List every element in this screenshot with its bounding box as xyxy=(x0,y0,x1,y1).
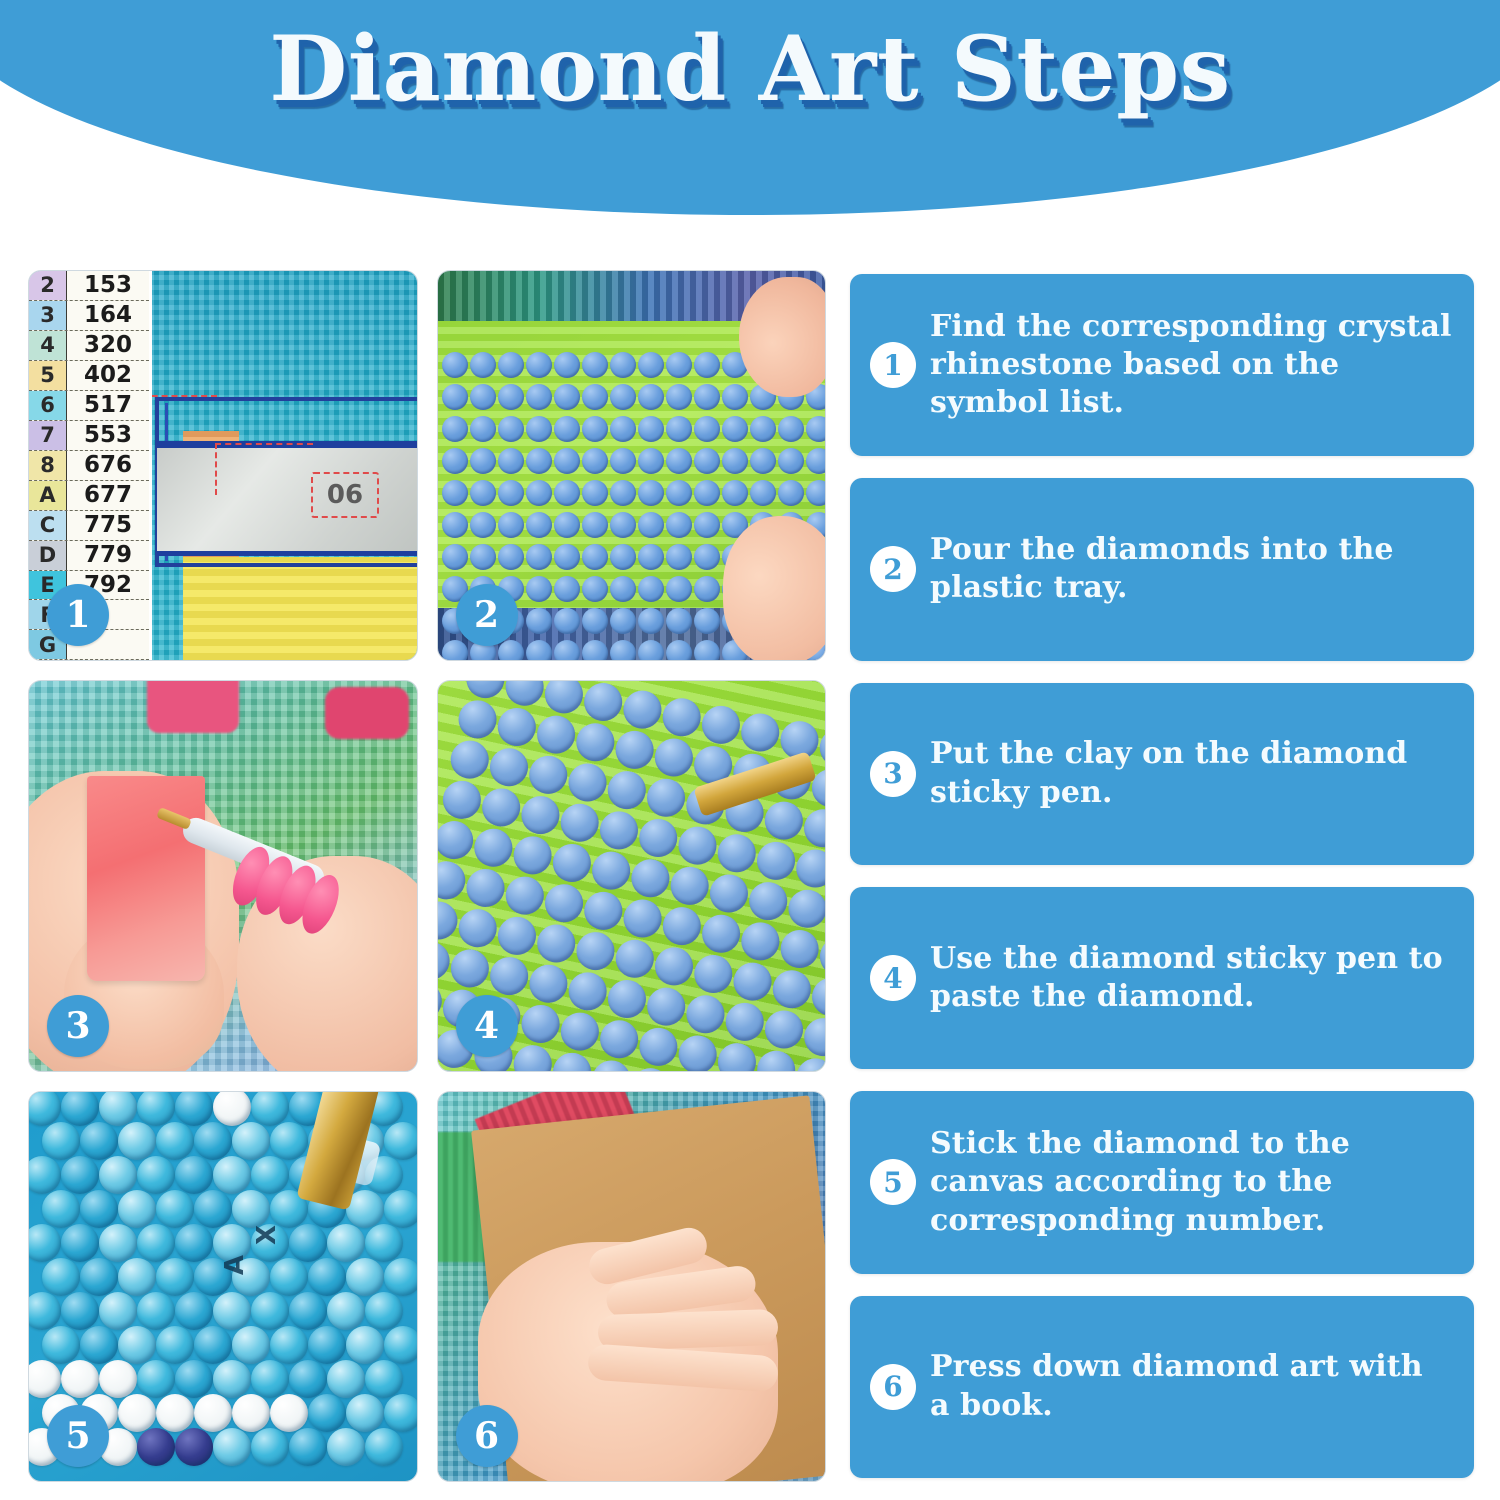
rhinestone-row xyxy=(438,445,826,477)
rhinestone xyxy=(447,737,492,782)
pasted-diamond xyxy=(118,1258,156,1296)
rhinestone xyxy=(683,992,728,1037)
symbol-cell: 8 xyxy=(29,451,67,480)
rhinestone xyxy=(502,873,547,918)
rhinestone xyxy=(722,384,748,410)
rhinestone xyxy=(442,512,468,538)
rhinestone xyxy=(750,480,776,506)
pasted-diamond xyxy=(99,1292,137,1330)
pasted-diamond xyxy=(308,1258,346,1296)
rhinestone xyxy=(800,806,826,851)
rhinestone xyxy=(604,977,649,1022)
finger-top-right xyxy=(739,277,826,397)
pasted-diamond xyxy=(156,1394,194,1432)
rhinestone xyxy=(526,352,552,378)
rhinestone xyxy=(610,544,636,570)
rhinestone-row xyxy=(438,413,826,445)
pasted-diamond xyxy=(327,1428,365,1466)
rhinestone xyxy=(582,384,608,410)
rhinestone xyxy=(526,448,552,474)
step-text-3: Put the clay on the diamond sticky pen. xyxy=(930,735,1452,812)
symbol-row: C775 xyxy=(29,511,149,541)
rhinestone xyxy=(554,384,580,410)
rhinestone xyxy=(541,881,586,926)
finger-3 xyxy=(597,1309,778,1351)
rhinestone xyxy=(582,416,608,442)
rhinestone xyxy=(667,863,712,908)
symbol-cell: A xyxy=(29,481,67,510)
rhinestone xyxy=(554,544,580,570)
rhinestone xyxy=(442,480,468,506)
step-panel-6[interactable]: 6 Press down diamond art with a book. xyxy=(850,1296,1474,1478)
content-area: 06 2153316443205402651775538676A677C775D… xyxy=(0,270,1500,1500)
rhinestone xyxy=(778,480,804,506)
rhinestone xyxy=(442,416,468,442)
rhinestone xyxy=(610,480,636,506)
canvas-symbol-x: X xyxy=(252,1225,282,1245)
pasted-diamond xyxy=(175,1091,213,1126)
rhinestone xyxy=(753,838,798,883)
rhinestone xyxy=(666,352,692,378)
rhinestone xyxy=(694,512,720,538)
rhinestone xyxy=(510,833,555,878)
rhinestone xyxy=(644,984,689,1029)
step-panel-5[interactable]: 5 Stick the diamond to the canvas accord… xyxy=(850,1091,1474,1273)
pasted-diamond xyxy=(42,1258,80,1296)
rhinestone xyxy=(554,512,580,538)
rhinestone xyxy=(518,1002,563,1047)
pasted-diamond xyxy=(61,1156,99,1194)
rhinestone xyxy=(636,816,681,861)
rhinestone xyxy=(638,544,664,570)
rhinestone xyxy=(793,846,826,891)
symbol-cell: 3 xyxy=(29,301,67,330)
rhinestone xyxy=(565,969,610,1014)
pasted-diamond xyxy=(308,1394,346,1432)
rhinestone xyxy=(610,416,636,442)
rhinestone xyxy=(777,927,822,972)
rhinestone xyxy=(675,1032,720,1072)
rhinestone xyxy=(694,416,720,442)
pasted-diamond xyxy=(118,1122,156,1160)
step-panel-3[interactable]: 3 Put the clay on the diamond sticky pen… xyxy=(850,683,1474,865)
rhinestone xyxy=(610,576,636,602)
step-text-2: Pour the diamonds into the plastic tray. xyxy=(930,531,1452,608)
rhinestone-row xyxy=(438,477,826,509)
rhinestone xyxy=(470,480,496,506)
code-cell: 779 xyxy=(67,541,149,570)
pasted-diamond xyxy=(156,1122,194,1160)
rhinestone xyxy=(526,416,552,442)
symbol-cell: 6 xyxy=(29,391,67,420)
rhinestone xyxy=(714,1040,759,1072)
symbol-cell: 4 xyxy=(29,331,67,360)
code-cell: 677 xyxy=(67,481,149,510)
rhinestone xyxy=(753,1047,798,1071)
pasted-diamond xyxy=(327,1360,365,1398)
pasted-diamond xyxy=(213,1091,251,1126)
rhinestone xyxy=(694,448,720,474)
rhinestone xyxy=(638,512,664,538)
pasted-diamond xyxy=(270,1258,308,1296)
rhinestone xyxy=(498,480,524,506)
pasted-diamond xyxy=(99,1224,137,1262)
pasted-diamond xyxy=(175,1360,213,1398)
rhinestone xyxy=(486,745,531,790)
steps-list: 1 Find the corresponding crystal rhinest… xyxy=(850,270,1474,1482)
photo-badge-2: 2 xyxy=(456,584,518,646)
pasted-diamond xyxy=(80,1258,118,1296)
rhinestone xyxy=(722,448,748,474)
rhinestone xyxy=(526,480,552,506)
rhinestone xyxy=(746,879,791,924)
pasted-diamond xyxy=(365,1292,403,1330)
photo-step-5[interactable]: X A 5 xyxy=(28,1091,418,1482)
rhinestone xyxy=(738,919,783,964)
rhinestone xyxy=(439,777,484,822)
rhinestone xyxy=(471,825,516,870)
pasted-diamond xyxy=(175,1156,213,1194)
rhinestone xyxy=(730,959,775,1004)
pasted-diamond xyxy=(384,1122,418,1160)
canvas-symbol-a: A xyxy=(220,1255,250,1275)
rhinestone xyxy=(533,712,578,757)
rhinestone xyxy=(549,841,594,886)
rhinestone xyxy=(610,512,636,538)
rhinestone xyxy=(638,416,664,442)
rhinestone xyxy=(582,480,608,506)
rhinestone xyxy=(582,576,608,602)
rhinestone xyxy=(620,896,665,941)
rhinestone xyxy=(694,544,720,570)
rhinestone xyxy=(437,898,461,943)
pasted-diamond xyxy=(251,1156,289,1194)
symbol-cell: 7 xyxy=(29,421,67,450)
rhinestone xyxy=(470,544,496,570)
step-badge-4: 4 xyxy=(870,955,916,1001)
pasted-diamond xyxy=(232,1190,270,1228)
pasted-diamond xyxy=(80,1190,118,1228)
canvas-pink-flower-2 xyxy=(325,687,409,739)
photo-step-6[interactable]: 6 xyxy=(437,1091,827,1482)
step-panel-2[interactable]: 2 Pour the diamonds into the plastic tra… xyxy=(850,478,1474,660)
rhinestone xyxy=(666,608,692,634)
pasted-diamond xyxy=(270,1326,308,1364)
rhinestone xyxy=(557,800,602,845)
pasted-diamond xyxy=(308,1326,346,1364)
rhinestone xyxy=(610,640,636,661)
pasted-diamond xyxy=(137,1224,175,1262)
rhinestone xyxy=(526,512,552,538)
rhinestone xyxy=(666,416,692,442)
symbol-row: A677 xyxy=(29,481,149,511)
step-text-1: Find the corresponding crystal rhineston… xyxy=(930,308,1452,423)
pasted-diamond xyxy=(365,1224,403,1262)
step-badge-1: 1 xyxy=(870,342,916,388)
rhinestone xyxy=(437,858,469,903)
rhinestone xyxy=(554,640,580,661)
rhinestone xyxy=(596,1017,641,1062)
pasted-diamond xyxy=(137,1360,175,1398)
pasted-diamond xyxy=(384,1326,418,1364)
photo-badge-4: 4 xyxy=(456,995,518,1057)
photo-grid: 06 2153316443205402651775538676A677C775D… xyxy=(28,270,826,1482)
pasted-diamond xyxy=(28,1224,61,1262)
photo-badge-3: 3 xyxy=(47,995,109,1057)
rhinestone xyxy=(442,352,468,378)
pasted-diamond xyxy=(137,1428,175,1466)
rhinestone xyxy=(638,384,664,410)
rhinestone xyxy=(463,866,508,911)
code-cell: 164 xyxy=(67,301,149,330)
pasted-diamond xyxy=(118,1326,156,1364)
rhinestone xyxy=(470,352,496,378)
rhinestone xyxy=(596,808,641,853)
rhinestone xyxy=(582,608,608,634)
symbol-cell: 5 xyxy=(29,361,67,390)
pasted-diamond xyxy=(99,1156,137,1194)
rhinestone xyxy=(554,352,580,378)
code-cell: 153 xyxy=(67,271,149,300)
rhinestone xyxy=(494,913,539,958)
rhinestone xyxy=(498,352,524,378)
pasted-diamond xyxy=(99,1091,137,1126)
code-cell: 553 xyxy=(67,421,149,450)
pasted-diamond xyxy=(365,1428,403,1466)
pasted-diamond xyxy=(28,1360,61,1398)
pasted-diamond xyxy=(327,1224,365,1262)
photo-step-3[interactable]: 3 xyxy=(28,680,418,1071)
rhinestone xyxy=(722,416,748,442)
rhinestone xyxy=(612,936,657,981)
rhinestone xyxy=(761,798,806,843)
rhinestone xyxy=(714,831,759,876)
rhinestone xyxy=(470,448,496,474)
rhinestone xyxy=(638,352,664,378)
pasted-diamond xyxy=(156,1326,194,1364)
rhinestone xyxy=(694,576,720,602)
rhinestone xyxy=(638,608,664,634)
rhinestone xyxy=(778,416,804,442)
rhinestone xyxy=(698,911,743,956)
rhinestone xyxy=(638,576,664,602)
rhinestone xyxy=(666,640,692,661)
rhinestone xyxy=(659,695,704,740)
rhinestone xyxy=(580,680,625,724)
rhinestone xyxy=(651,944,696,989)
rhinestone xyxy=(651,735,696,780)
rhinestone xyxy=(666,384,692,410)
code-cell: 320 xyxy=(67,331,149,360)
rhinestone xyxy=(549,1049,594,1071)
rhinestone xyxy=(659,904,704,949)
photo-step-2[interactable]: 2 xyxy=(437,270,827,661)
pasted-diamond xyxy=(137,1292,175,1330)
rhinestone xyxy=(694,608,720,634)
rhinestone xyxy=(526,608,552,634)
pasted-diamond xyxy=(251,1091,289,1126)
step-text-6: Press down diamond art with a book. xyxy=(930,1348,1452,1425)
pasted-diamond xyxy=(213,1156,251,1194)
rhinestone xyxy=(610,448,636,474)
symbol-row: D779 xyxy=(29,541,149,571)
rhinestone xyxy=(806,448,827,474)
pasted-diamond xyxy=(118,1190,156,1228)
rhinestone xyxy=(486,954,531,999)
rhinestone xyxy=(518,793,563,838)
pasted-diamond xyxy=(289,1224,327,1262)
pasted-diamond xyxy=(137,1091,175,1126)
step-text-5: Stick the diamond to the canvas accordin… xyxy=(930,1125,1452,1240)
pasted-diamond xyxy=(346,1326,384,1364)
rhinestone xyxy=(447,946,492,991)
rhinestone xyxy=(470,416,496,442)
rhinestone xyxy=(761,1007,806,1052)
photo-step-4[interactable]: 4 xyxy=(437,680,827,1071)
pasted-diamond xyxy=(175,1292,213,1330)
pasted-diamond xyxy=(346,1258,384,1296)
pasted-diamond xyxy=(365,1360,403,1398)
rhinestone xyxy=(442,448,468,474)
rhinestone xyxy=(806,480,827,506)
symbol-row: 6517 xyxy=(29,391,149,421)
header-banner: Diamond Art Steps xyxy=(0,0,1500,215)
bag-number-label: 06 xyxy=(311,472,379,518)
rhinestone xyxy=(498,640,524,661)
rhinestone xyxy=(582,352,608,378)
pasted-diamond xyxy=(384,1190,418,1228)
rhinestone xyxy=(526,752,571,797)
pasted-diamond xyxy=(270,1122,308,1160)
pasted-diamond xyxy=(384,1394,418,1432)
finger-bottom-right xyxy=(723,516,826,661)
rhinestone xyxy=(557,1009,602,1054)
pasted-diamond xyxy=(28,1091,61,1126)
rhinestone xyxy=(643,775,688,820)
rhinestone xyxy=(573,929,618,974)
pasted-diamond xyxy=(61,1292,99,1330)
rhinestone xyxy=(498,512,524,538)
rhinestone xyxy=(666,480,692,506)
pasted-diamond xyxy=(213,1428,251,1466)
rhinestone xyxy=(610,352,636,378)
rhinestone xyxy=(698,702,743,747)
pink-clay xyxy=(87,776,205,981)
step-panel-1[interactable]: 1 Find the corresponding crystal rhinest… xyxy=(850,274,1474,456)
rhinestone xyxy=(437,938,453,983)
pasted-diamond xyxy=(232,1326,270,1364)
pasted-diamond xyxy=(80,1122,118,1160)
pasted-diamond xyxy=(28,1292,61,1330)
photo-badge-1: 1 xyxy=(47,584,109,646)
pasted-diamond xyxy=(61,1091,99,1126)
rhinestone xyxy=(750,448,776,474)
rhinestone xyxy=(442,544,468,570)
pasted-diamond xyxy=(61,1224,99,1262)
rhinestone xyxy=(694,480,720,506)
rhinestone xyxy=(666,448,692,474)
photo-badge-5: 5 xyxy=(47,1405,109,1467)
rhinestone xyxy=(534,921,579,966)
rhinestone xyxy=(526,961,571,1006)
rhinestone xyxy=(455,906,500,951)
rhinestone xyxy=(554,448,580,474)
symbol-row: 8676 xyxy=(29,451,149,481)
rhinestone xyxy=(691,952,736,997)
rhinestone xyxy=(666,512,692,538)
callout-line-corner xyxy=(215,443,313,495)
rhinestone xyxy=(478,785,523,830)
photo-step-1[interactable]: 06 2153316443205402651775538676A677C775D… xyxy=(28,270,418,661)
step-panel-4[interactable]: 4 Use the diamond sticky pen to paste th… xyxy=(850,887,1474,1069)
pasted-diamond xyxy=(61,1360,99,1398)
pasted-diamond xyxy=(289,1428,327,1466)
rhinestone xyxy=(526,640,552,661)
pasted-diamond xyxy=(42,1326,80,1364)
rhinestone xyxy=(628,856,673,901)
pasted-diamond xyxy=(232,1122,270,1160)
pasted-diamond xyxy=(194,1394,232,1432)
rhinestone xyxy=(455,697,500,742)
step-badge-5: 5 xyxy=(870,1159,916,1205)
rhinestone xyxy=(437,818,476,863)
rhinestone xyxy=(675,823,720,868)
pasted-diamond xyxy=(42,1122,80,1160)
rhinestone xyxy=(694,640,720,661)
rhinestone xyxy=(694,384,720,410)
pasted-diamond xyxy=(99,1360,137,1398)
rhinestone xyxy=(526,384,552,410)
rhinestone xyxy=(722,999,767,1044)
rhinestone xyxy=(581,888,626,933)
rhinestone xyxy=(806,416,827,442)
rhinestone xyxy=(666,544,692,570)
rhinestone xyxy=(582,512,608,538)
rhinestone xyxy=(554,608,580,634)
rhinestone xyxy=(498,448,524,474)
pasted-diamond xyxy=(289,1360,327,1398)
pasted-diamond xyxy=(213,1292,251,1330)
symbol-row: 5402 xyxy=(29,361,149,391)
rhinestone xyxy=(565,760,610,805)
pasted-diamond xyxy=(194,1122,232,1160)
pasted-diamond xyxy=(137,1156,175,1194)
rhinestone xyxy=(638,480,664,506)
rhinestone xyxy=(554,576,580,602)
rhinestone xyxy=(638,640,664,661)
rhinestone xyxy=(554,480,580,506)
step-badge-3: 3 xyxy=(870,751,916,797)
pasted-diamond xyxy=(118,1394,156,1432)
rhinestone xyxy=(470,384,496,410)
rhinestone xyxy=(554,416,580,442)
pasted-diamond xyxy=(251,1292,289,1330)
rhinestone xyxy=(498,544,524,570)
pasted-diamond xyxy=(156,1258,194,1296)
step-badge-6: 6 xyxy=(870,1364,916,1410)
rhinestone xyxy=(494,705,539,750)
code-cell: 517 xyxy=(67,391,149,420)
pasted-diamond xyxy=(175,1428,213,1466)
rhinestone xyxy=(785,886,826,931)
code-cell: 775 xyxy=(67,511,149,540)
pasted-diamond xyxy=(289,1292,327,1330)
rhinestone xyxy=(706,871,751,916)
pasted-diamond xyxy=(213,1360,251,1398)
pasted-diamond xyxy=(80,1326,118,1364)
rhinestone xyxy=(526,544,552,570)
pasted-diamond xyxy=(384,1258,418,1296)
